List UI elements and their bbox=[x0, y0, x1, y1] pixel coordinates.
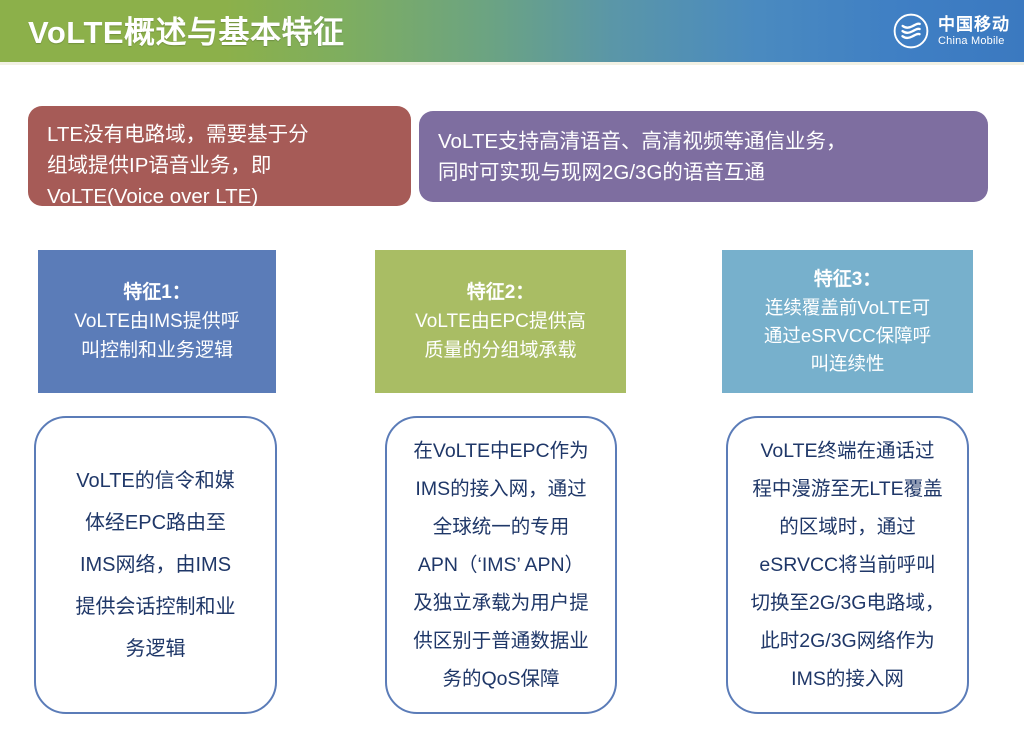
header-underline bbox=[0, 62, 1024, 65]
feature-header-3: 特征3： 连续覆盖前VoLTE可 通过eSRVCC保障呼 叫连续性 bbox=[722, 250, 973, 393]
china-mobile-swirl-icon bbox=[893, 13, 929, 49]
feature-3-summary: 连续覆盖前VoLTE可 通过eSRVCC保障呼 叫连续性 bbox=[764, 294, 931, 378]
statement-banner-lte: LTE没有电路域，需要基于分 组域提供IP语音业务，即 VoLTE(Voice … bbox=[28, 106, 411, 206]
feature-1-summary: VoLTE由IMS提供呼 叫控制和业务逻辑 bbox=[74, 307, 239, 365]
feature-header-2: 特征2： VoLTE由EPC提供高 质量的分组域承载 bbox=[375, 250, 626, 393]
feature-detail-card-2: 在VoLTE中EPC作为 IMS的接入网，通过 全球统一的专用 APN（‘IMS… bbox=[385, 416, 617, 714]
page-title: VoLTE概述与基本特征 bbox=[28, 7, 345, 52]
feature-header-1: 特征1： VoLTE由IMS提供呼 叫控制和业务逻辑 bbox=[38, 250, 276, 393]
feature-3-title: 特征3： bbox=[814, 265, 882, 294]
feature-detail-card-1: VoLTE的信令和媒 体经EPC路由至 IMS网络，由IMS 提供会话控制和业 … bbox=[34, 416, 277, 714]
feature-detail-card-3: VoLTE终端在通话过 程中漫游至无LTE覆盖 的区域时，通过 eSRVCC将当… bbox=[726, 416, 969, 714]
feature-2-summary: VoLTE由EPC提供高 质量的分组域承载 bbox=[415, 307, 586, 365]
logo-name-english: China Mobile bbox=[938, 36, 1010, 47]
china-mobile-logo: 中国移动 China Mobile bbox=[893, 9, 1010, 53]
logo-wordmark: 中国移动 China Mobile bbox=[938, 16, 1010, 47]
statement-banner-volte-services: VoLTE支持高清语音、高清视频等通信业务， 同时可实现与现网2G/3G的语音互… bbox=[419, 111, 988, 202]
feature-1-title: 特征1： bbox=[123, 278, 191, 307]
feature-2-title: 特征2： bbox=[467, 278, 535, 307]
logo-name-chinese: 中国移动 bbox=[938, 16, 1010, 33]
